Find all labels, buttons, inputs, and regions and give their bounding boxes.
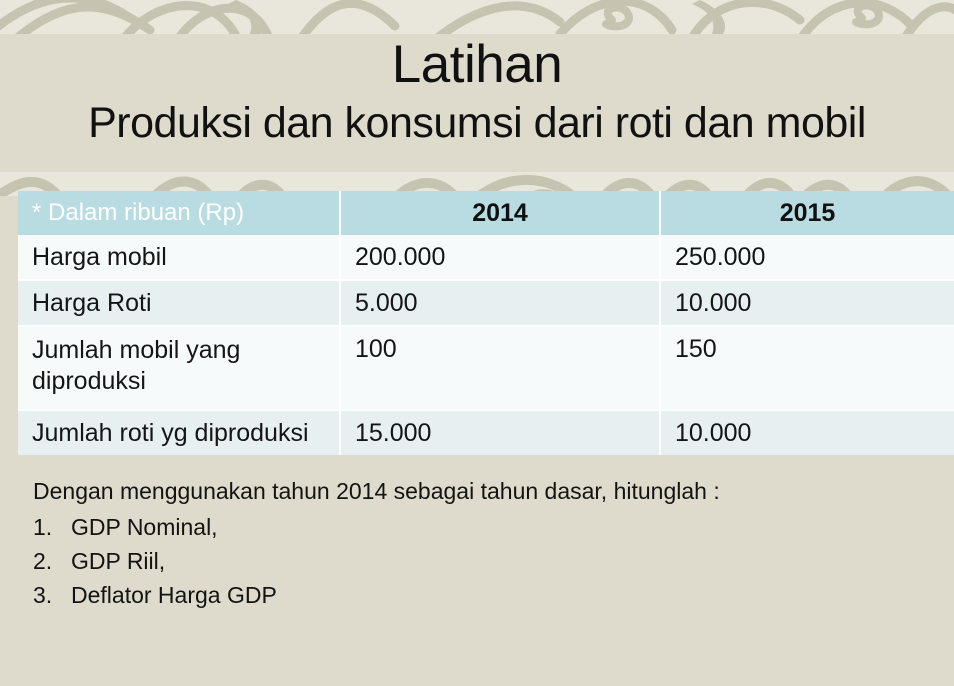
list-item: 2. GDP Riil,: [33, 544, 913, 578]
column-header-year-2014: 2014: [340, 191, 660, 235]
page-title: Latihan: [0, 34, 954, 96]
row-value-2014: 100: [340, 326, 660, 410]
list-item: 1. GDP Nominal,: [33, 510, 913, 544]
table-header-row: * Dalam ribuan (Rp) 2014 2015: [18, 191, 954, 235]
list-item: 3. Deflator Harga GDP: [33, 578, 913, 612]
row-label: Jumlah mobil yang diproduksi: [18, 326, 340, 410]
row-value-2014: 200.000: [340, 235, 660, 280]
table-row: Harga mobil 200.000 250.000: [18, 235, 954, 280]
slide-canvas: Latihan Produksi dan konsumsi dari roti …: [0, 0, 954, 686]
list-item-number: 2.: [33, 544, 71, 578]
row-value-2014: 5.000: [340, 280, 660, 326]
list-item-label: GDP Riil,: [71, 544, 165, 578]
question-list: 1. GDP Nominal, 2. GDP Riil, 3. Deflator…: [33, 510, 913, 612]
list-item-number: 3.: [33, 578, 71, 612]
row-label: Jumlah roti yg diproduksi: [18, 410, 340, 455]
list-item-number: 1.: [33, 510, 71, 544]
row-label: Harga mobil: [18, 235, 340, 280]
list-item-label: GDP Nominal,: [71, 510, 218, 544]
title-block: Latihan Produksi dan konsumsi dari roti …: [0, 34, 954, 174]
question-prompt: Dengan menggunakan tahun 2014 sebagai ta…: [33, 474, 913, 508]
table-row: Harga Roti 5.000 10.000: [18, 280, 954, 326]
table-header: * Dalam ribuan (Rp) 2014 2015: [18, 191, 954, 235]
page-subtitle: Produksi dan konsumsi dari roti dan mobi…: [0, 96, 954, 150]
table-row: Jumlah roti yg diproduksi 15.000 10.000: [18, 410, 954, 455]
row-label: Harga Roti: [18, 280, 340, 326]
row-value-2015: 150: [660, 326, 954, 410]
table-body: Harga mobil 200.000 250.000 Harga Roti 5…: [18, 235, 954, 455]
column-header-year-2015: 2015: [660, 191, 954, 235]
table-row: Jumlah mobil yang diproduksi 100 150: [18, 326, 954, 410]
row-value-2015: 250.000: [660, 235, 954, 280]
floral-ornament-icon: [0, 0, 954, 36]
row-value-2015: 10.000: [660, 410, 954, 455]
question-block: Dengan menggunakan tahun 2014 sebagai ta…: [33, 474, 913, 612]
column-header-label: * Dalam ribuan (Rp): [18, 191, 340, 235]
row-value-2014: 15.000: [340, 410, 660, 455]
data-table: * Dalam ribuan (Rp) 2014 2015 Harga mobi…: [18, 191, 954, 455]
row-value-2015: 10.000: [660, 280, 954, 326]
list-item-label: Deflator Harga GDP: [71, 578, 277, 612]
data-table-container: * Dalam ribuan (Rp) 2014 2015 Harga mobi…: [18, 191, 954, 455]
